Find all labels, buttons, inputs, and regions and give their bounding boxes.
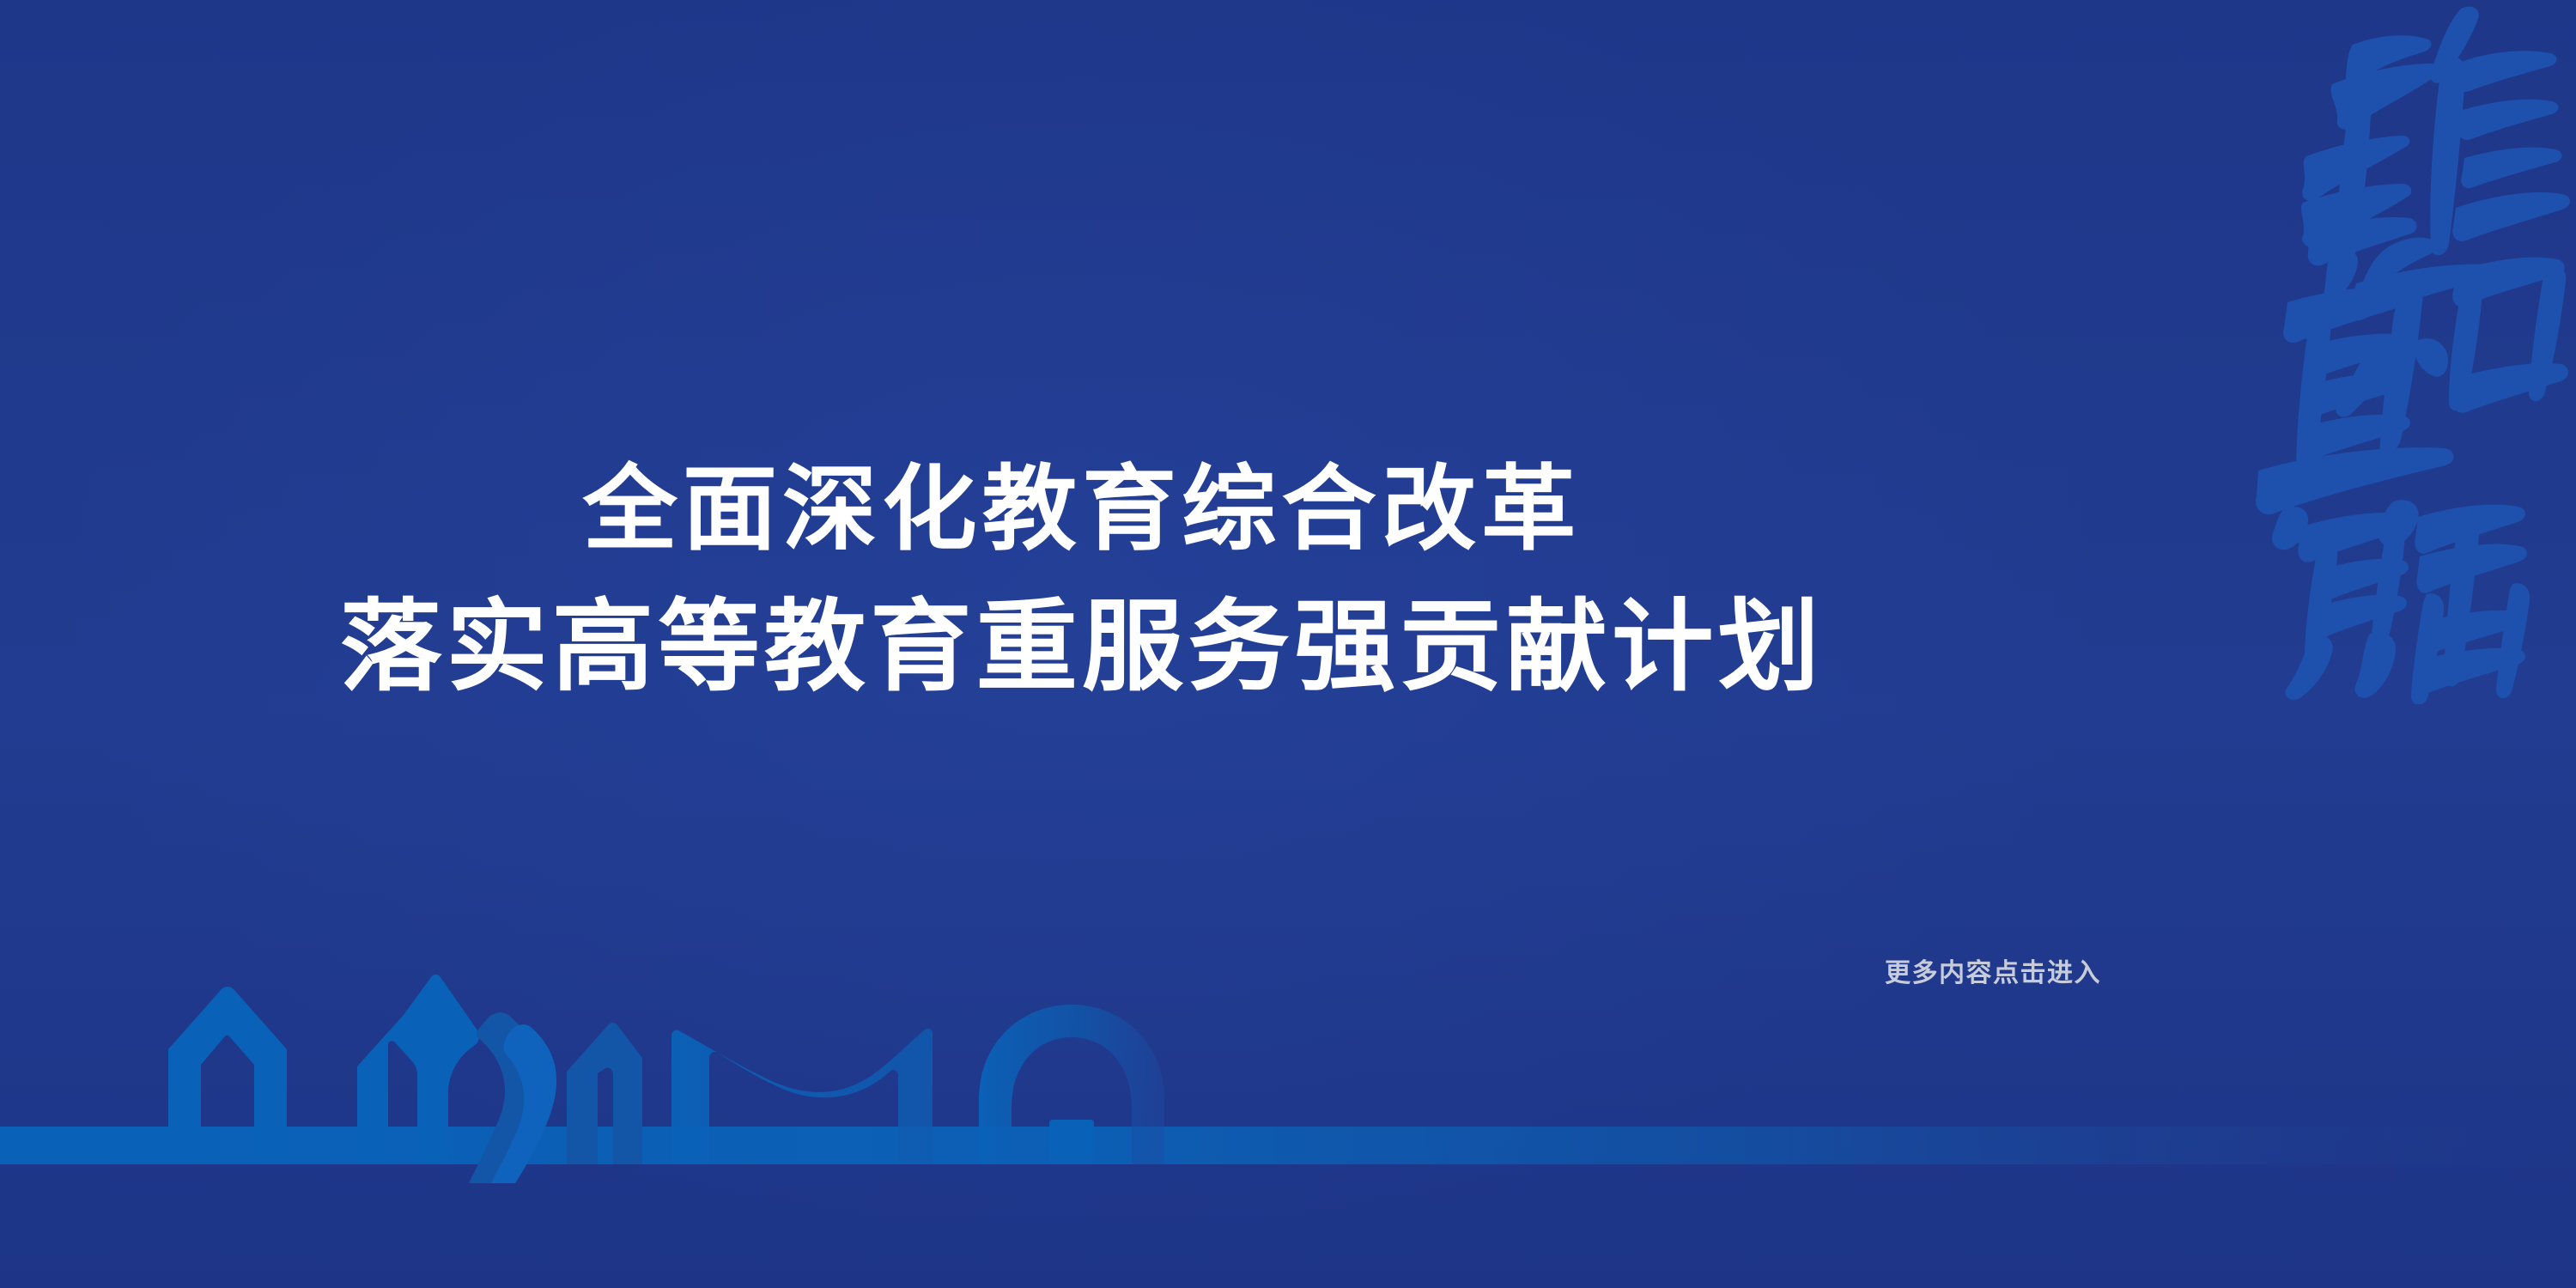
skyline-wave-block: [671, 1029, 933, 1164]
campus-skyline-silhouette: [0, 970, 2576, 1185]
skyline-ribbon-curve: [469, 1012, 540, 1183]
main-title-block: 全面深化教育综合改革 落实高等教育重服务强贡献计划: [0, 464, 2164, 697]
calligraphy-char-he: [2336, 238, 2568, 451]
skyline-baseline-strip: [0, 1127, 2576, 1164]
calligraphy-brand-mark: [2250, 0, 2576, 704]
skyline-dome-door: [1049, 1120, 1094, 1164]
skyline-spire-tower: [357, 975, 479, 1164]
skyline-narrow-tower: [567, 1023, 642, 1164]
title-line-1: 全面深化教育综合改革: [0, 464, 2185, 556]
calligraphy-char-ya: [2301, 7, 2570, 266]
title-line-2: 落实高等教育重服务强贡献计划: [0, 598, 2185, 697]
slide-canvas: 全面深化教育综合改革 落实高等教育重服务强贡献计划 更多内容点击进入: [0, 0, 2576, 1288]
calligraphy-char-zhen: [2256, 251, 2453, 550]
skyline-ribbon-curve-inner: [491, 1024, 556, 1183]
skyline-dome-arch: [979, 1005, 1164, 1164]
calligraphy-char-liang: [2285, 505, 2530, 704]
more-content-link[interactable]: 更多内容点击进入: [1885, 951, 2101, 989]
skyline-house-peak: [168, 987, 287, 1164]
